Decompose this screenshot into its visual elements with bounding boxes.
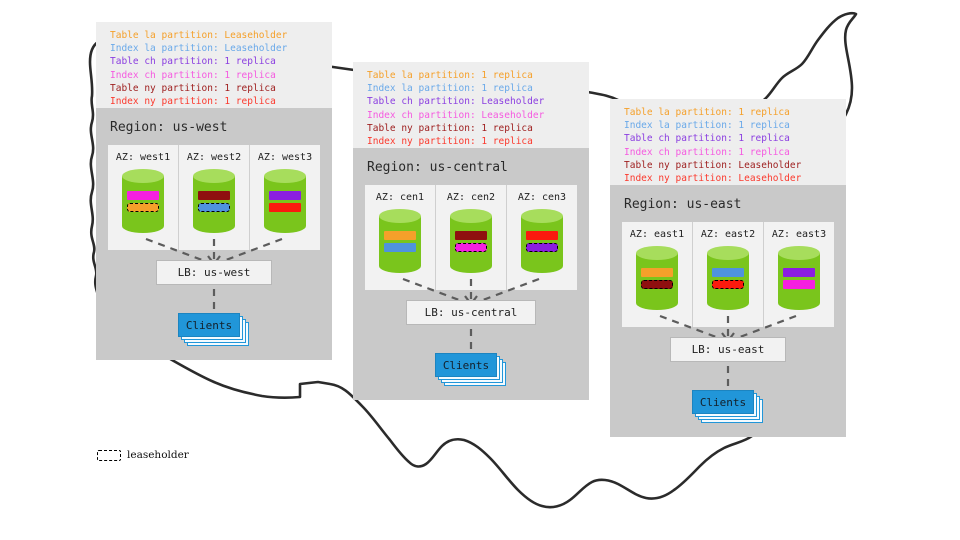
node-cylinder-east1[interactable] [636,246,678,308]
clients-stack-us-west[interactable]: Clients [178,313,250,347]
az-label-east1: AZ: east1 [630,229,684,240]
replica-slot-table-la[interactable] [641,268,673,277]
az-cell-east1[interactable]: AZ: east1 [622,222,693,327]
node-cylinder-cen1[interactable] [379,209,421,271]
region-cluster-us-central: Table la partition: 1 replica Index la p… [353,62,589,400]
clients-label-us-west[interactable]: Clients [178,313,240,337]
leaseholder-key: leaseholder [97,449,189,461]
cylinder-top [264,169,306,183]
cylinder-top [122,169,164,183]
legend-line-index-ny: Index ny partition: Leaseholder [624,172,836,185]
cylinder-top [778,246,820,260]
node-cylinder-east3[interactable] [778,246,820,308]
cylinder-top [450,209,492,223]
clients-stack-us-central[interactable]: Clients [435,353,507,387]
replica-slot-table-ny-leaseholder[interactable] [641,280,673,289]
replica-slot-table-ny[interactable] [455,231,487,240]
replica-slots-cen2 [455,231,487,252]
legend-line-index-ch: Index ch partition: 1 replica [110,69,322,82]
node-cylinder-west2[interactable] [193,169,235,231]
legend-line-table-ch: Table ch partition: 1 replica [624,132,836,145]
leaseholder-key-label: leaseholder [127,449,189,461]
region-box-us-east: Region: us-east AZ: east1 AZ [610,185,846,437]
az-cell-cen3[interactable]: AZ: cen3 [507,185,577,290]
legend-line-table-la: Table la partition: 1 replica [367,69,579,82]
cylinder-top [193,169,235,183]
node-cylinder-west1[interactable] [122,169,164,231]
replica-slots-west1 [127,191,159,212]
az-cell-west3[interactable]: AZ: west3 [250,145,320,250]
dashed-rectangle-icon [97,450,121,461]
replica-slots-west3 [269,191,301,212]
az-row-us-east: AZ: east1 AZ: east2 [622,222,834,327]
az-label-west2: AZ: west2 [187,152,241,163]
az-cell-east3[interactable]: AZ: east3 [764,222,834,327]
az-cell-cen1[interactable]: AZ: cen1 [365,185,436,290]
az-label-west3: AZ: west3 [258,152,312,163]
replica-slot-index-la[interactable] [384,243,416,252]
legend-line-index-ny: Index ny partition: 1 replica [367,135,579,148]
replica-slot-index-ch-leaseholder[interactable] [455,243,487,252]
replica-slot-table-ch-leaseholder[interactable] [526,243,558,252]
clients-label-us-east[interactable]: Clients [692,390,754,414]
region-box-us-central: Region: us-central AZ: cen1 [353,148,589,400]
replica-slot-index-la-leaseholder[interactable] [198,203,230,212]
replica-slots-cen3 [526,231,558,252]
replica-slot-table-ny[interactable] [198,191,230,200]
legend-line-index-ch: Index ch partition: 1 replica [624,146,836,159]
replica-slots-east1 [641,268,673,289]
replica-slot-index-la[interactable] [712,268,744,277]
az-label-cen1: AZ: cen1 [376,192,424,203]
lb-box-us-west[interactable]: LB: us-west [156,260,272,285]
legend-us-east: Table la partition: 1 replica Index la p… [610,99,846,185]
cylinder-top [521,209,563,223]
clients-label-us-central[interactable]: Clients [435,353,497,377]
az-label-west1: AZ: west1 [116,152,170,163]
cylinder-top [379,209,421,223]
replica-slots-cen1 [384,231,416,252]
replica-slot-table-la-leaseholder[interactable] [127,203,159,212]
replica-slot-index-ch[interactable] [127,191,159,200]
az-label-east3: AZ: east3 [772,229,826,240]
legend-line-index-ch: Index ch partition: Leaseholder [367,109,579,122]
node-cylinder-west3[interactable] [264,169,306,231]
replica-slot-index-ny[interactable] [269,203,301,212]
az-label-cen3: AZ: cen3 [518,192,566,203]
region-title-us-east: Region: us-east [624,197,834,212]
legend-line-table-ch: Table ch partition: 1 replica [110,55,322,68]
lb-box-us-central[interactable]: LB: us-central [406,300,536,325]
az-row-us-central: AZ: cen1 AZ: cen2 [365,185,577,290]
replica-slot-index-ny-leaseholder[interactable] [712,280,744,289]
legend-line-table-ch: Table ch partition: Leaseholder [367,95,579,108]
region-title-us-west: Region: us-west [110,120,320,135]
replica-slot-table-la[interactable] [384,231,416,240]
cylinder-top [636,246,678,260]
az-cell-cen2[interactable]: AZ: cen2 [436,185,507,290]
replica-slot-table-ch[interactable] [783,268,815,277]
az-cell-east2[interactable]: AZ: east2 [693,222,764,327]
region-title-us-central: Region: us-central [367,160,577,175]
region-cluster-us-west: Table la partition: Leaseholder Index la… [96,22,332,360]
legend-line-table-ny: Table ny partition: Leaseholder [624,159,836,172]
node-cylinder-east2[interactable] [707,246,749,308]
lb-box-us-east[interactable]: LB: us-east [670,337,786,362]
legend-us-central: Table la partition: 1 replica Index la p… [353,62,589,148]
replica-slot-index-ch[interactable] [783,280,815,289]
legend-line-table-ny: Table ny partition: 1 replica [367,122,579,135]
legend-line-table-la: Table la partition: Leaseholder [110,29,322,42]
region-cluster-us-east: Table la partition: 1 replica Index la p… [610,99,846,437]
legend-line-index-la: Index la partition: 1 replica [367,82,579,95]
az-label-cen2: AZ: cen2 [447,192,495,203]
legend-line-table-ny: Table ny partition: 1 replica [110,82,322,95]
region-box-us-west: Region: us-west AZ: west1 AZ [96,108,332,360]
node-cylinder-cen3[interactable] [521,209,563,271]
az-cell-west2[interactable]: AZ: west2 [179,145,250,250]
replica-slots-east3 [783,268,815,289]
legend-line-index-la: Index la partition: Leaseholder [110,42,322,55]
legend-line-index-la: Index la partition: 1 replica [624,119,836,132]
cylinder-top [707,246,749,260]
az-row-us-west: AZ: west1 AZ: west2 [108,145,320,250]
az-cell-west1[interactable]: AZ: west1 [108,145,179,250]
replica-slots-west2 [198,191,230,212]
diagram-canvas: Table la partition: Leaseholder Index la… [0,0,960,540]
node-cylinder-cen2[interactable] [450,209,492,271]
replica-slots-east2 [712,268,744,289]
legend-line-index-ny: Index ny partition: 1 replica [110,95,322,108]
replica-slot-table-ch[interactable] [269,191,301,200]
legend-line-table-la: Table la partition: 1 replica [624,106,836,119]
legend-us-west: Table la partition: Leaseholder Index la… [96,22,332,108]
clients-stack-us-east[interactable]: Clients [692,390,764,424]
az-label-east2: AZ: east2 [701,229,755,240]
replica-slot-index-ny[interactable] [526,231,558,240]
